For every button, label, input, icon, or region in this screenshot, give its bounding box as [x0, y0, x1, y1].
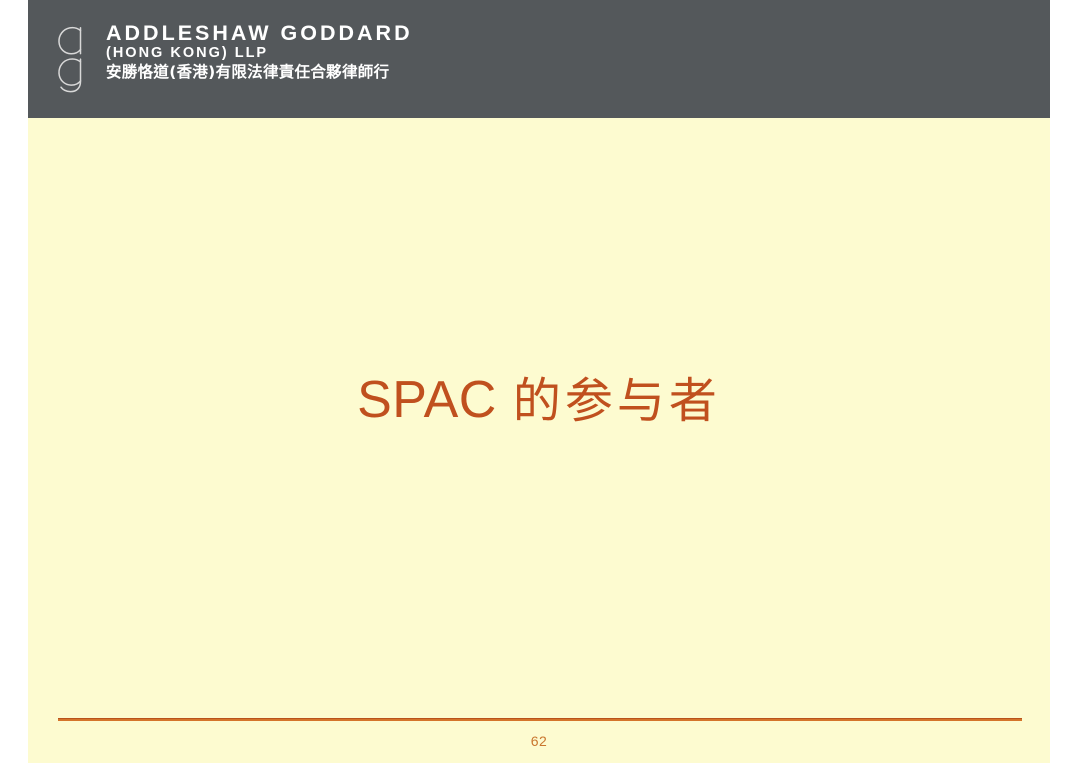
slide-canvas: ADDLESHAW GODDARD (HONG KONG) LLP 安勝恪道(香… [28, 0, 1050, 763]
page-title-chinese: 的参与者 [513, 373, 721, 429]
slide-body: SPAC的参与者 62 [28, 118, 1050, 763]
page-number: 62 [28, 733, 1050, 749]
ag-monogram-logo [50, 19, 92, 95]
brand-name-entity: (HONG KONG) LLP [106, 45, 413, 63]
footer-divider [58, 718, 1022, 721]
page-title: SPAC的参与者 [28, 361, 1050, 431]
brand-name-chinese: 安勝恪道(香港)有限法律責任合夥律師行 [106, 63, 413, 82]
brand-text-block: ADDLESHAW GODDARD (HONG KONG) LLP 安勝恪道(香… [106, 19, 413, 82]
slide-header-band: ADDLESHAW GODDARD (HONG KONG) LLP 安勝恪道(香… [28, 0, 1050, 118]
page-title-latin: SPAC [357, 371, 497, 429]
brand-name-primary: ADDLESHAW GODDARD [106, 23, 413, 45]
brand-lockup: ADDLESHAW GODDARD (HONG KONG) LLP 安勝恪道(香… [50, 19, 413, 95]
